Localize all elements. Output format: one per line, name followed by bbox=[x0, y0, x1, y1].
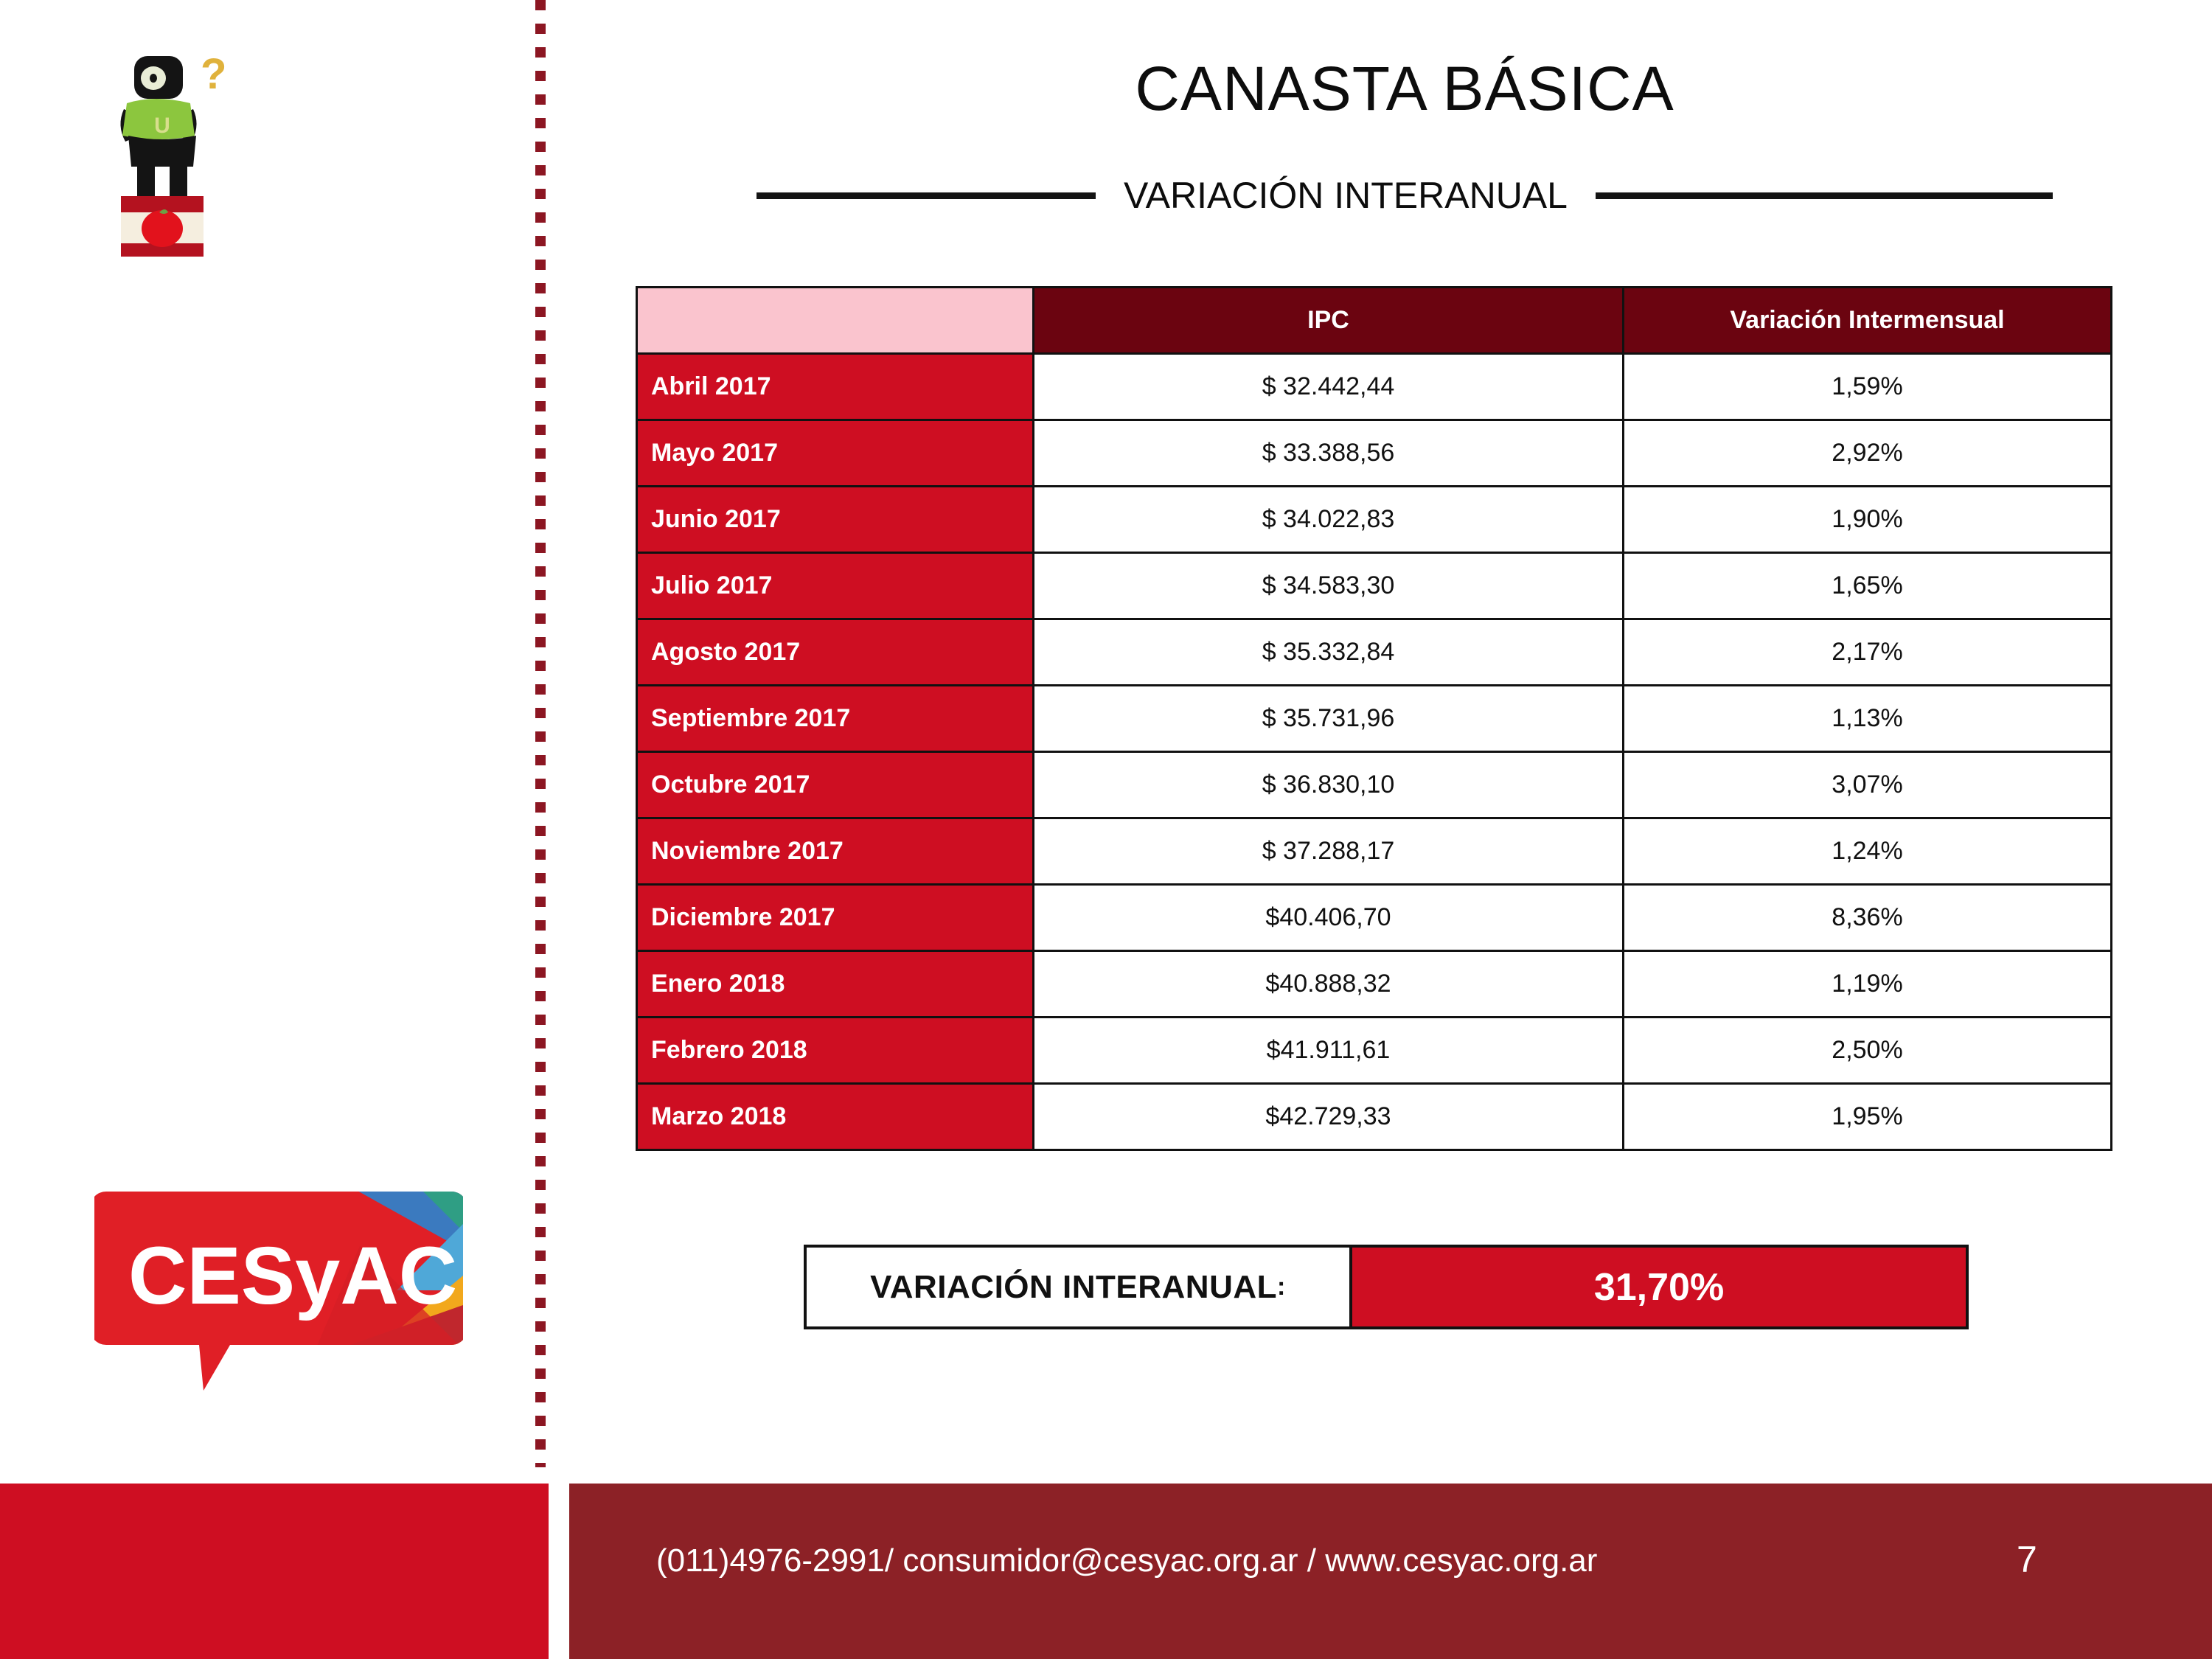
cell-variacion: 1,19% bbox=[1624, 951, 2112, 1018]
table-corner-cell bbox=[637, 288, 1034, 354]
svg-text:CESyAC: CESyAC bbox=[128, 1231, 457, 1321]
table-row: Abril 2017 $ 32.442,44 1,59% bbox=[637, 354, 2112, 420]
page-title: CANASTA BÁSICA bbox=[634, 58, 2175, 119]
cell-month: Noviembre 2017 bbox=[637, 818, 1034, 885]
table-row: Enero 2018 $40.888,32 1,19% bbox=[637, 951, 2112, 1018]
cell-month: Febrero 2018 bbox=[637, 1018, 1034, 1084]
cell-variacion: 1,13% bbox=[1624, 686, 2112, 752]
svg-text:?: ? bbox=[201, 50, 226, 98]
cell-variacion: 3,07% bbox=[1624, 752, 2112, 818]
cell-ipc: $40.406,70 bbox=[1034, 885, 1624, 951]
cell-ipc: $ 34.022,83 bbox=[1034, 487, 1624, 553]
cell-month: Enero 2018 bbox=[637, 951, 1034, 1018]
cell-ipc: $41.911,61 bbox=[1034, 1018, 1624, 1084]
cell-ipc: $ 37.288,17 bbox=[1034, 818, 1624, 885]
cell-ipc: $ 35.731,96 bbox=[1034, 686, 1624, 752]
cell-variacion: 1,24% bbox=[1624, 818, 2112, 885]
column-header-variacion: Variación Intermensual bbox=[1624, 288, 2112, 354]
cell-ipc: $42.729,33 bbox=[1034, 1084, 1624, 1150]
cell-variacion: 1,65% bbox=[1624, 553, 2112, 619]
cell-ipc: $ 32.442,44 bbox=[1034, 354, 1624, 420]
cell-ipc: $ 34.583,30 bbox=[1034, 553, 1624, 619]
summary-label-colon: : bbox=[1277, 1273, 1286, 1301]
cell-variacion: 2,92% bbox=[1624, 420, 2112, 487]
summary-label: VARIACIÓN INTERANUAL: bbox=[807, 1248, 1352, 1326]
cell-variacion: 1,59% bbox=[1624, 354, 2112, 420]
interanual-summary: VARIACIÓN INTERANUAL: 31,70% bbox=[804, 1245, 1969, 1329]
table-row: Febrero 2018 $41.911,61 2,50% bbox=[637, 1018, 2112, 1084]
cell-month: Agosto 2017 bbox=[637, 619, 1034, 686]
cell-month: Marzo 2018 bbox=[637, 1084, 1034, 1150]
table-row: Octubre 2017 $ 36.830,10 3,07% bbox=[637, 752, 2112, 818]
svg-text:U: U bbox=[154, 114, 170, 138]
footer-contact: (011)4976-2991/ consumidor@cesyac.org.ar… bbox=[656, 1545, 1597, 1577]
dotted-divider bbox=[535, 0, 546, 1467]
cell-variacion: 8,36% bbox=[1624, 885, 2112, 951]
cell-month: Abril 2017 bbox=[637, 354, 1034, 420]
table-row: Septiembre 2017 $ 35.731,96 1,13% bbox=[637, 686, 2112, 752]
cell-month: Octubre 2017 bbox=[637, 752, 1034, 818]
table-row: Marzo 2018 $42.729,33 1,95% bbox=[637, 1084, 2112, 1150]
subtitle-rule-left bbox=[757, 192, 1096, 199]
cell-variacion: 1,90% bbox=[1624, 487, 2112, 553]
cesyac-logo: CESyAC bbox=[94, 1180, 463, 1394]
page-number: 7 bbox=[2017, 1541, 2037, 1578]
table-row: Junio 2017 $ 34.022,83 1,90% bbox=[637, 487, 2112, 553]
cell-variacion: 2,17% bbox=[1624, 619, 2112, 686]
mascot-icon: ? U bbox=[88, 35, 236, 257]
table-row: Mayo 2017 $ 33.388,56 2,92% bbox=[637, 420, 2112, 487]
cell-variacion: 2,50% bbox=[1624, 1018, 2112, 1084]
cell-month: Mayo 2017 bbox=[637, 420, 1034, 487]
ipc-table: IPC Variación Intermensual Abril 2017 $ … bbox=[636, 286, 2112, 1151]
bottom-left-red-block bbox=[0, 1484, 549, 1659]
summary-label-text: VARIACIÓN INTERANUAL bbox=[870, 1269, 1277, 1306]
cell-variacion: 1,95% bbox=[1624, 1084, 2112, 1150]
table-row: Julio 2017 $ 34.583,30 1,65% bbox=[637, 553, 2112, 619]
subtitle-row: VARIACIÓN INTERANUAL bbox=[634, 170, 2175, 221]
cell-ipc: $40.888,32 bbox=[1034, 951, 1624, 1018]
cell-month: Diciembre 2017 bbox=[637, 885, 1034, 951]
cell-month: Junio 2017 bbox=[637, 487, 1034, 553]
summary-value: 31,70% bbox=[1352, 1248, 1966, 1326]
cell-ipc: $ 35.332,84 bbox=[1034, 619, 1624, 686]
table-row: Diciembre 2017 $40.406,70 8,36% bbox=[637, 885, 2112, 951]
cell-month: Septiembre 2017 bbox=[637, 686, 1034, 752]
table-header-row: IPC Variación Intermensual bbox=[637, 288, 2112, 354]
cell-ipc: $ 36.830,10 bbox=[1034, 752, 1624, 818]
table-row: Noviembre 2017 $ 37.288,17 1,24% bbox=[637, 818, 2112, 885]
cell-month: Julio 2017 bbox=[637, 553, 1034, 619]
column-header-ipc: IPC bbox=[1034, 288, 1624, 354]
page-subtitle: VARIACIÓN INTERANUAL bbox=[1124, 177, 1568, 214]
subtitle-rule-right bbox=[1596, 192, 2053, 199]
slide: ? U bbox=[0, 0, 2212, 1659]
cell-ipc: $ 33.388,56 bbox=[1034, 420, 1624, 487]
table-row: Agosto 2017 $ 35.332,84 2,17% bbox=[637, 619, 2112, 686]
